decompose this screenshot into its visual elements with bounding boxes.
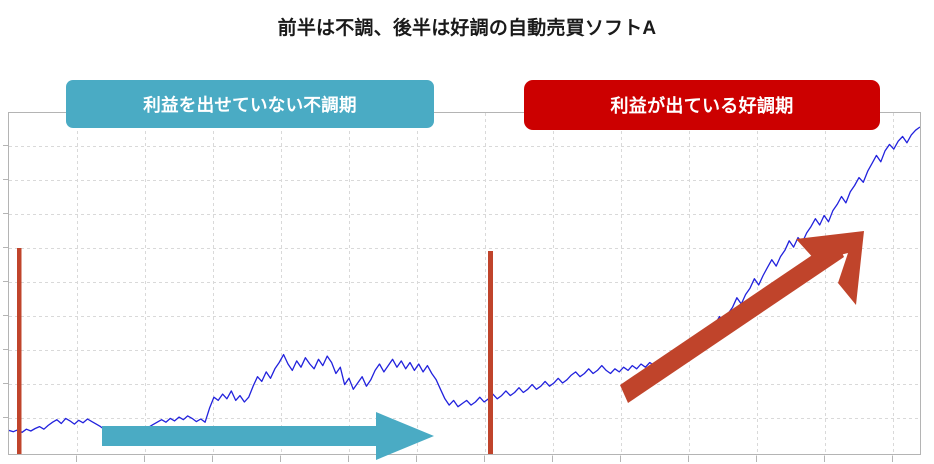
period-marker-mid	[488, 251, 493, 454]
slump-period-callout: 利益を出せていない不調期	[66, 80, 434, 128]
vertical-gridlines	[78, 113, 894, 454]
chart-figure: 前半は不調、後半は好調の自動売買ソフトA	[0, 0, 934, 464]
slump-period-callout-label: 利益を出せていない不調期	[143, 92, 357, 117]
series-plot	[9, 113, 920, 454]
page-title: 前半は不調、後半は好調の自動売買ソフトA	[0, 18, 934, 41]
period-marker-left	[17, 248, 22, 454]
plot-area	[8, 112, 921, 455]
strong-period-callout: 利益が出ている好調期	[524, 80, 880, 130]
strong-period-callout-label: 利益が出ている好調期	[611, 92, 794, 118]
